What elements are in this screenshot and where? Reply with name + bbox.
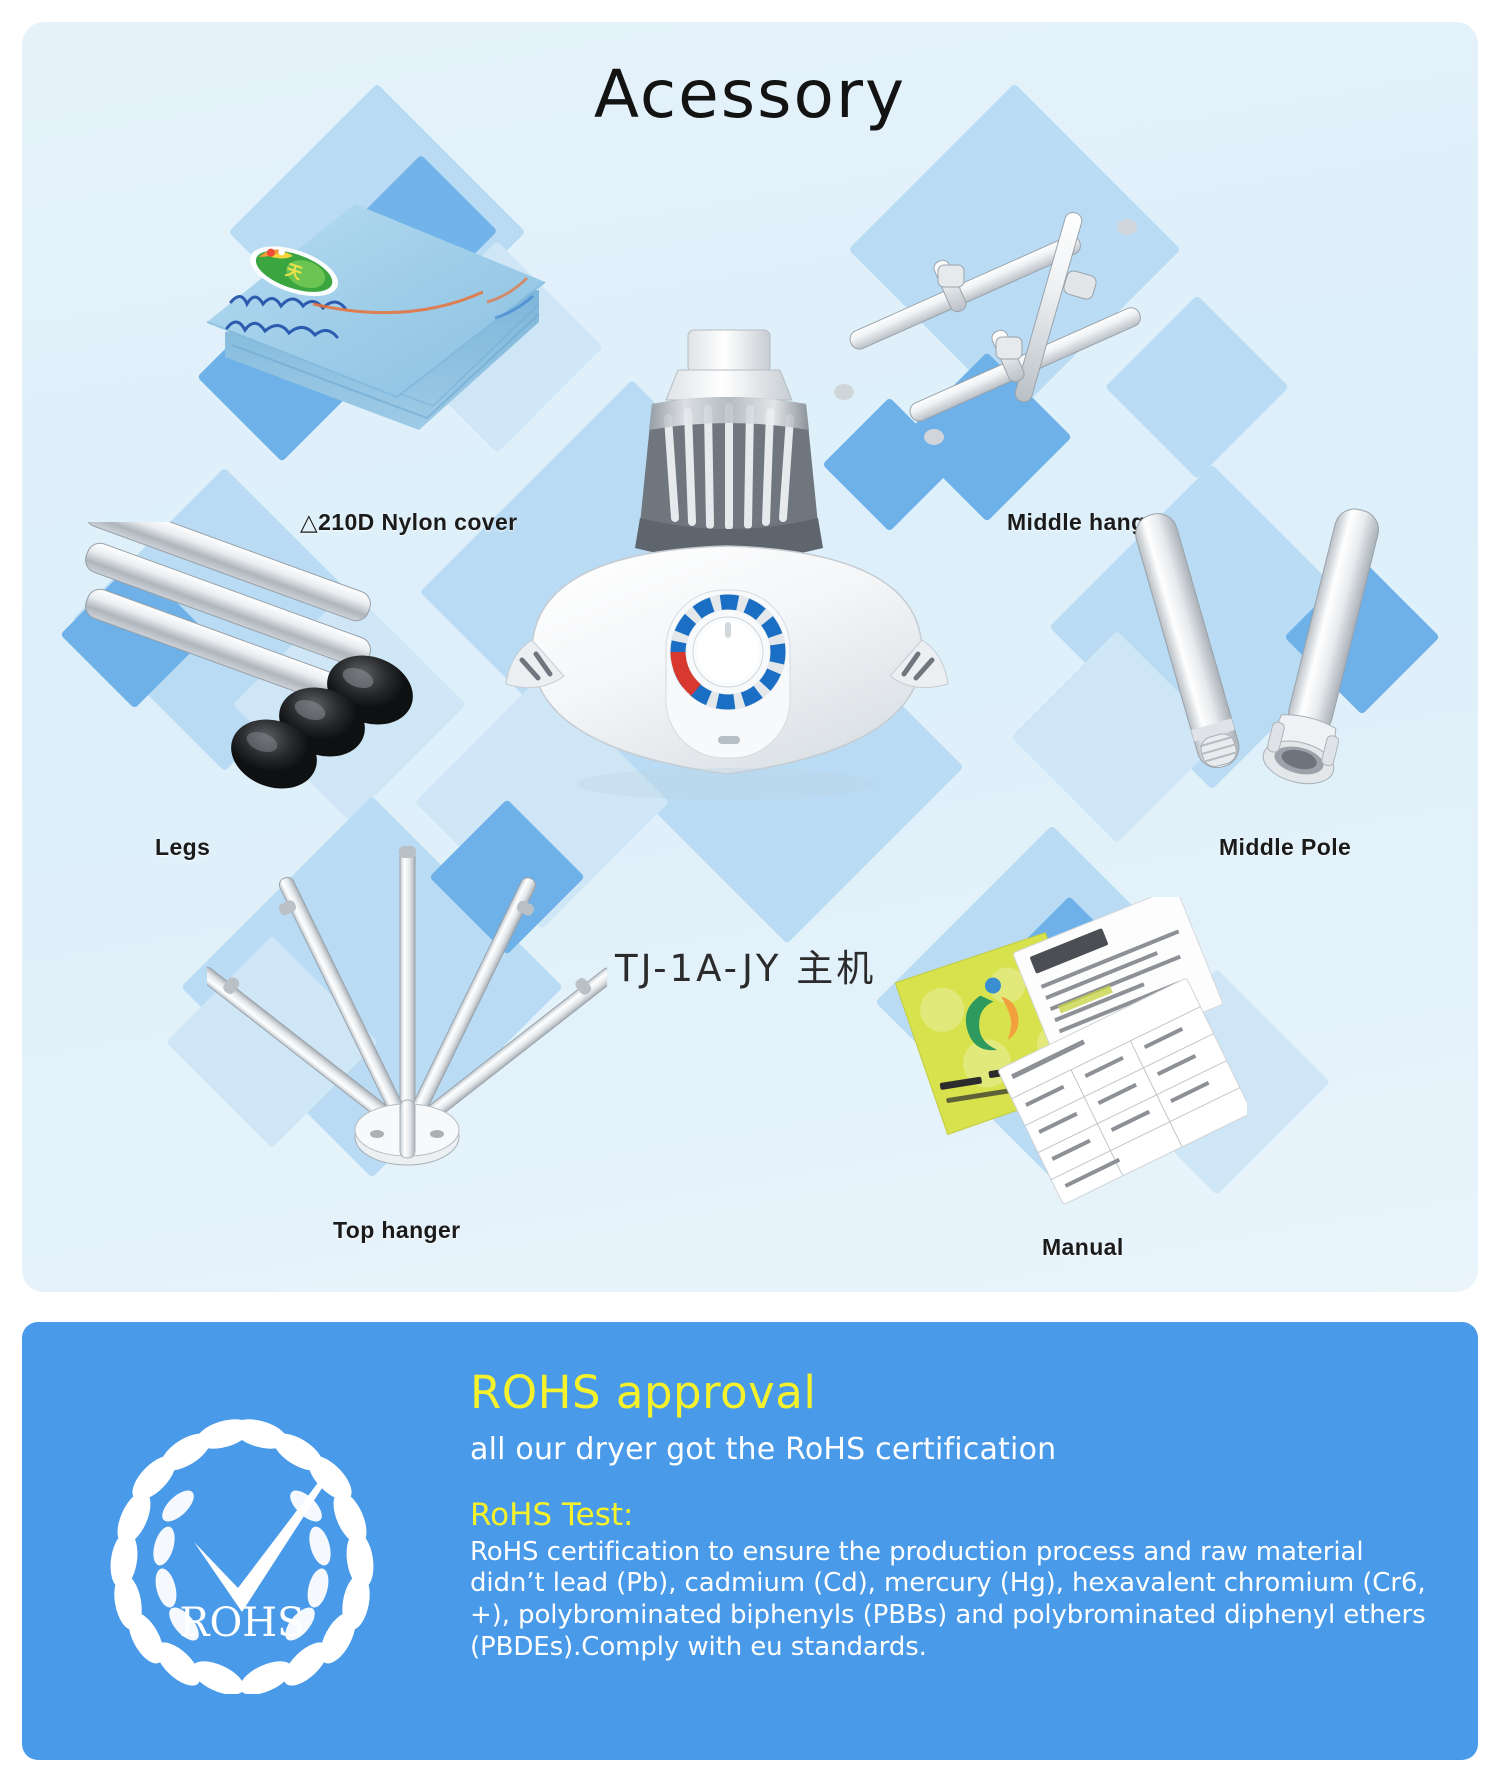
middle-pole-image <box>1112 502 1432 812</box>
page-title: Acessory <box>22 56 1478 133</box>
rohs-panel: ROHS ROHS approval all our dryer got the… <box>22 1322 1478 1760</box>
manual-image <box>877 897 1247 1207</box>
legs-image <box>70 522 490 822</box>
rohs-logo-caption: ROHS <box>179 1600 304 1646</box>
rohs-wreath-check-icon: ROHS <box>82 1374 402 1694</box>
rohs-text-block: ROHS approval all our dryer got the RoHS… <box>470 1368 1440 1663</box>
item-label-manual: Manual <box>1042 1234 1124 1261</box>
item-label-middle-pole: Middle Pole <box>1219 834 1351 861</box>
product-accessory-page: Acessory <box>0 0 1500 1782</box>
rohs-subheading: all our dryer got the RoHS certification <box>470 1432 1440 1467</box>
rohs-test-heading: RoHS Test: <box>470 1497 1440 1533</box>
rohs-heading: ROHS approval <box>470 1368 1440 1418</box>
main-unit-model-label: TJ-1A-JY 主机 <box>615 938 876 992</box>
item-label-legs: Legs <box>155 834 210 861</box>
main-unit-image <box>492 322 962 802</box>
accessory-panel: Acessory <box>22 22 1478 1292</box>
top-hanger-image <box>207 842 607 1172</box>
rohs-body-text: RoHS certification to ensure the product… <box>470 1537 1430 1664</box>
rohs-logo: ROHS <box>82 1374 402 1694</box>
item-label-top-hanger: Top hanger <box>333 1217 461 1244</box>
